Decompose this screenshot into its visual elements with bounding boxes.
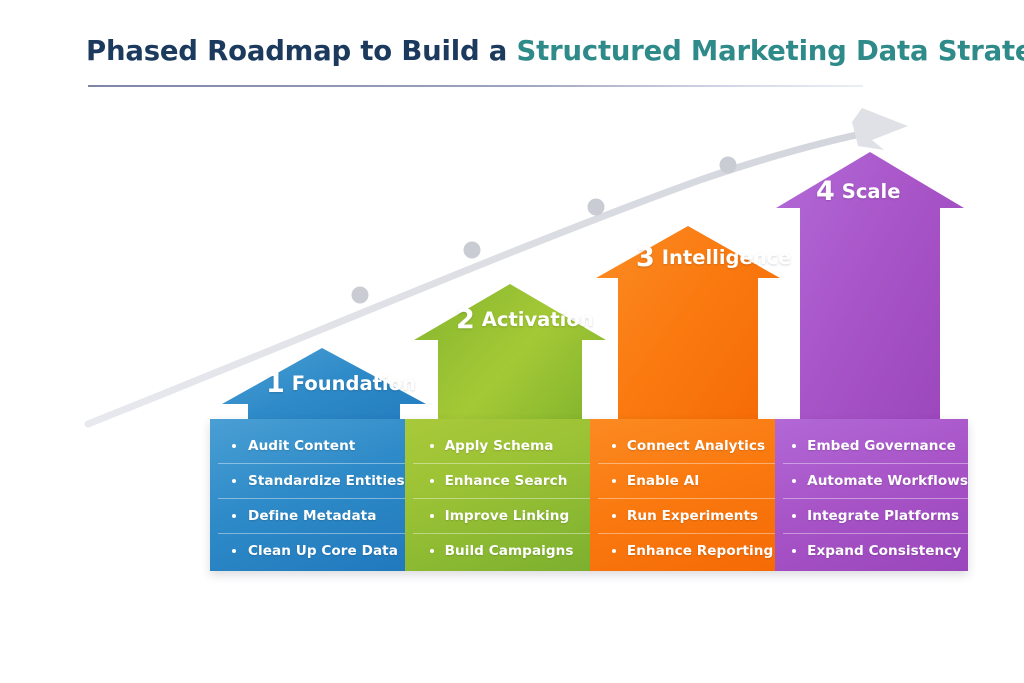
list-item[interactable]: Embed Governance [775, 428, 968, 463]
list-item[interactable]: Enhance Search [405, 463, 590, 498]
phase-column-scale: Embed Governance Automate Workflows Inte… [775, 419, 968, 571]
phase-number-1: 1 [266, 368, 285, 399]
bullet-dot-icon [612, 549, 616, 553]
phase-label-intelligence: 3Intelligence [636, 240, 791, 271]
phase-number-4: 4 [816, 176, 835, 207]
list-item-label: Build Campaigns [445, 543, 574, 559]
growth-curve-arrowhead [852, 108, 908, 150]
phase-deliverables-panel: Audit Content Standardize Entities Defin… [210, 419, 968, 571]
list-item[interactable]: Audit Content [210, 428, 405, 463]
list-item[interactable]: Define Metadata [210, 498, 405, 533]
phase-name-2: Activation [482, 308, 594, 331]
page-title-part-one: Phased Roadmap to Build a [86, 35, 517, 67]
list-item[interactable]: Standardize Entities [210, 463, 405, 498]
list-item-label: Enhance Search [445, 473, 568, 489]
list-item[interactable]: Enable AI [590, 463, 775, 498]
list-item-label: Embed Governance [807, 438, 956, 454]
phase-number-2: 2 [456, 304, 475, 335]
bullet-dot-icon [430, 549, 434, 553]
list-item[interactable]: Build Campaigns [405, 533, 590, 568]
phase-arrow-scale[interactable]: 4Scale [776, 152, 964, 438]
milestone-dot [720, 157, 737, 174]
milestone-dot [352, 287, 369, 304]
list-item-label: Define Metadata [248, 508, 376, 524]
list-item-label: Audit Content [248, 438, 355, 454]
phase-name-4: Scale [842, 180, 901, 203]
phase-column-foundation: Audit Content Standardize Entities Defin… [210, 419, 405, 571]
phase-column-activation: Apply Schema Enhance Search Improve Link… [405, 419, 590, 571]
list-item[interactable]: Connect Analytics [590, 428, 775, 463]
phase-arrow-activation[interactable]: 2Activation [414, 284, 606, 438]
page-title: Phased Roadmap to Build a Structured Mar… [86, 34, 966, 68]
bullet-dot-icon [792, 549, 796, 553]
list-item[interactable]: Integrate Platforms [775, 498, 968, 533]
bullet-dot-icon [232, 549, 236, 553]
milestone-dot [588, 199, 605, 216]
bullet-dot-icon [232, 514, 236, 518]
list-item[interactable]: Run Experiments [590, 498, 775, 533]
list-item[interactable]: Expand Consistency [775, 533, 968, 568]
bullet-dot-icon [612, 444, 616, 448]
list-item-label: Integrate Platforms [807, 508, 959, 524]
bullet-dot-icon [232, 479, 236, 483]
list-item-label: Enable AI [627, 473, 700, 489]
bullet-dot-icon [430, 514, 434, 518]
phase-arrow-intelligence[interactable]: 3Intelligence [596, 226, 780, 438]
bullet-dot-icon [792, 444, 796, 448]
bullet-dot-icon [612, 514, 616, 518]
list-item-label: Apply Schema [445, 438, 554, 454]
bullet-dot-icon [612, 479, 616, 483]
phase-name-1: Foundation [292, 372, 416, 395]
title-block: Phased Roadmap to Build a Structured Mar… [86, 34, 966, 68]
phase-column-intelligence: Connect Analytics Enable AI Run Experime… [590, 419, 775, 571]
milestone-dot [464, 242, 481, 259]
list-item[interactable]: Improve Linking [405, 498, 590, 533]
list-item-label: Standardize Entities [248, 473, 405, 489]
list-item[interactable]: Enhance Reporting [590, 533, 775, 568]
phase-label-scale: 4Scale [816, 174, 900, 205]
title-divider-rule [88, 85, 863, 87]
phase-label-foundation: 1Foundation [266, 366, 416, 397]
phase-name-3: Intelligence [662, 246, 792, 269]
bullet-dot-icon [792, 514, 796, 518]
phase-label-activation: 2Activation [456, 302, 594, 333]
list-item-label: Run Experiments [627, 508, 758, 524]
infographic-canvas: Phased Roadmap to Build a Structured Mar… [0, 0, 1024, 683]
list-item-label: Improve Linking [445, 508, 570, 524]
list-item-label: Connect Analytics [627, 438, 765, 454]
bullet-dot-icon [430, 479, 434, 483]
list-item[interactable]: Clean Up Core Data [210, 533, 405, 568]
list-item[interactable]: Automate Workflows [775, 463, 968, 498]
list-item-label: Clean Up Core Data [248, 543, 398, 559]
page-title-part-two: Structured Marketing Data Strategy [517, 35, 1024, 67]
list-item-label: Enhance Reporting [627, 543, 773, 559]
list-item-label: Automate Workflows [807, 473, 968, 489]
bullet-dot-icon [232, 444, 236, 448]
list-item-label: Expand Consistency [807, 543, 961, 559]
bullet-dot-icon [430, 444, 434, 448]
phase-number-3: 3 [636, 242, 655, 273]
list-item[interactable]: Apply Schema [405, 428, 590, 463]
bullet-dot-icon [792, 479, 796, 483]
